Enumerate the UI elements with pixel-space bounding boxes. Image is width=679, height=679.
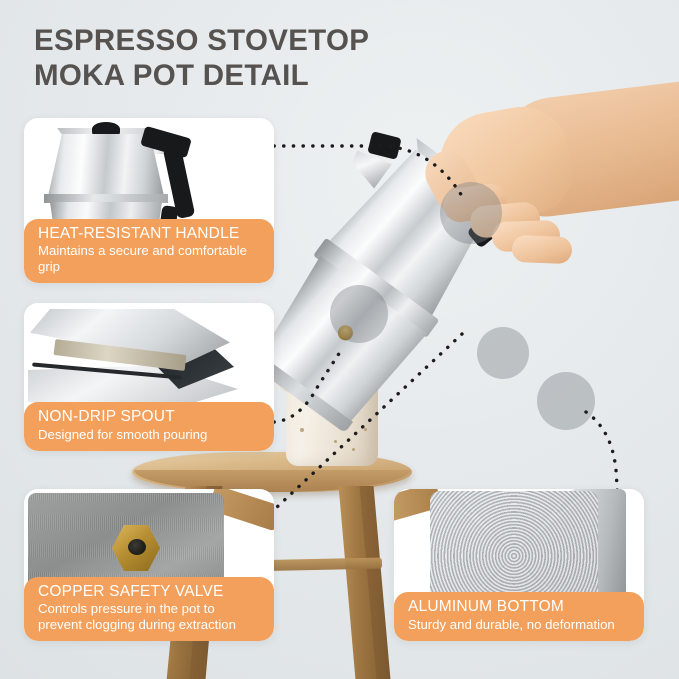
card-caption-bottom: ALUMINUM BOTTOM Sturdy and durable, no d… <box>394 592 644 641</box>
finger-pinky <box>512 235 573 264</box>
card-desc: Maintains a secure and comfortable grip <box>38 243 262 274</box>
card-caption-handle: HEAT-RESISTANT HANDLE Maintains a secure… <box>24 219 274 283</box>
callout-card-non-drip-spout[interactable]: NON-DRIP SPOUT Designed for smooth pouri… <box>24 303 274 451</box>
card-desc: Controls pressure in the pot to prevent … <box>38 601 262 632</box>
card-title: HEAT-RESISTANT HANDLE <box>38 226 262 243</box>
highlight-circle-valve <box>477 327 529 379</box>
page-title: ESPRESSO STOVETOP MOKA POT DETAIL <box>34 24 504 93</box>
card-caption-valve: COPPER SAFETY VALVE Controls pressure in… <box>24 577 274 641</box>
card-title: NON-DRIP SPOUT <box>38 409 262 426</box>
card-caption-spout: NON-DRIP SPOUT Designed for smooth pouri… <box>24 402 274 451</box>
callout-card-copper-safety-valve[interactable]: COPPER SAFETY VALVE Controls pressure in… <box>24 489 274 641</box>
title-line-2: MOKA POT DETAIL <box>34 59 504 94</box>
card-desc: Sturdy and durable, no deformation <box>408 617 632 632</box>
card-title: ALUMINUM BOTTOM <box>408 599 632 616</box>
infographic-root: ESPRESSO STOVETOP MOKA POT DETAIL HEAT-R… <box>0 0 679 679</box>
highlight-circle-handle <box>440 182 502 244</box>
title-line-1: ESPRESSO STOVETOP <box>34 24 504 59</box>
callout-card-aluminum-bottom[interactable]: ALUMINUM BOTTOM Sturdy and durable, no d… <box>394 489 644 641</box>
highlight-circle-spout <box>330 285 388 343</box>
callout-card-heat-resistant-handle[interactable]: HEAT-RESISTANT HANDLE Maintains a secure… <box>24 118 274 283</box>
card-title: COPPER SAFETY VALVE <box>38 584 262 601</box>
card-desc: Designed for smooth pouring <box>38 427 262 442</box>
highlight-circle-bottom <box>537 372 595 430</box>
